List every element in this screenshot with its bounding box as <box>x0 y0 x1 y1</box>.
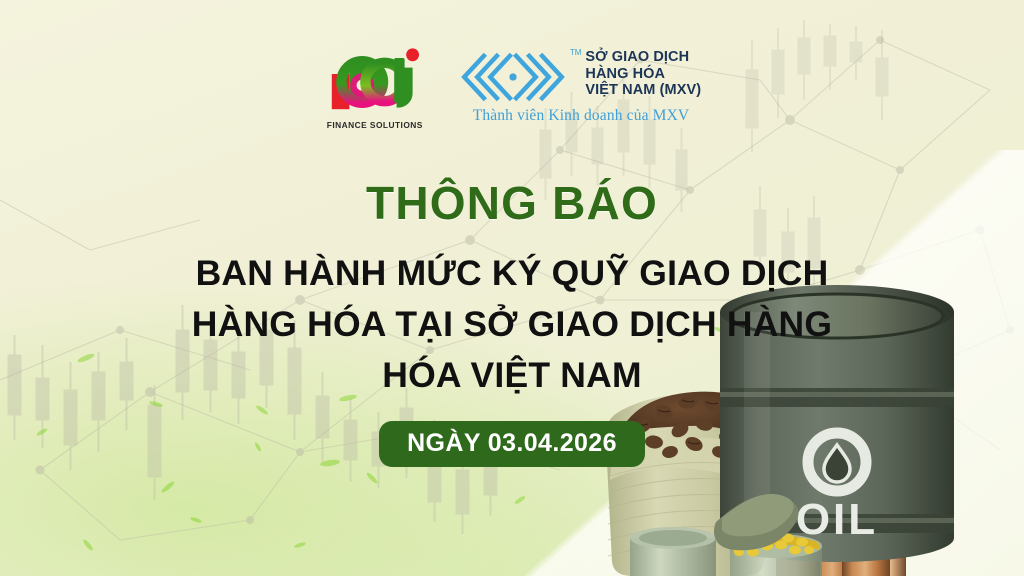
page-headline: BAN HÀNH MỨC KÝ QUỸ GIAO DỊCH HÀNG HÓA T… <box>0 248 1024 400</box>
pdj-logo: FINANCE SOLUTIONS <box>323 46 427 130</box>
mxv-logo: TM SỞ GIAO DỊCH HÀNG HÓA VIỆT NAM (MXV) … <box>461 46 701 125</box>
mxv-logo-icon <box>461 50 565 104</box>
pdj-tagline: FINANCE SOLUTIONS <box>327 120 423 130</box>
mxv-line-3: VIỆT NAM (MXV) <box>585 82 701 99</box>
oil-barrel-label: OIL <box>796 495 878 544</box>
page-title-kicker: THÔNG BÁO <box>0 176 1024 230</box>
mxv-line-1: SỞ GIAO DỊCH <box>585 49 701 66</box>
mxv-line-2: HÀNG HÓA <box>585 66 701 83</box>
date-badge-wrapper: NGÀY 03.04.2026 <box>0 421 1024 467</box>
pdj-logo-icon <box>327 46 423 118</box>
mxv-membership-tagline: Thành viên Kinh doanh của MXV <box>473 107 690 125</box>
logo-row: FINANCE SOLUTIONS TM SỞ GI <box>0 46 1024 130</box>
date-badge: NGÀY 03.04.2026 <box>379 421 645 467</box>
trademark-icon: TM <box>570 48 582 57</box>
announcement-banner: FINANCE SOLUTIONS TM SỞ GI <box>0 0 1024 576</box>
mxv-wordmark: SỞ GIAO DỊCH HÀNG HÓA VIỆT NAM (MXV) <box>585 46 701 99</box>
